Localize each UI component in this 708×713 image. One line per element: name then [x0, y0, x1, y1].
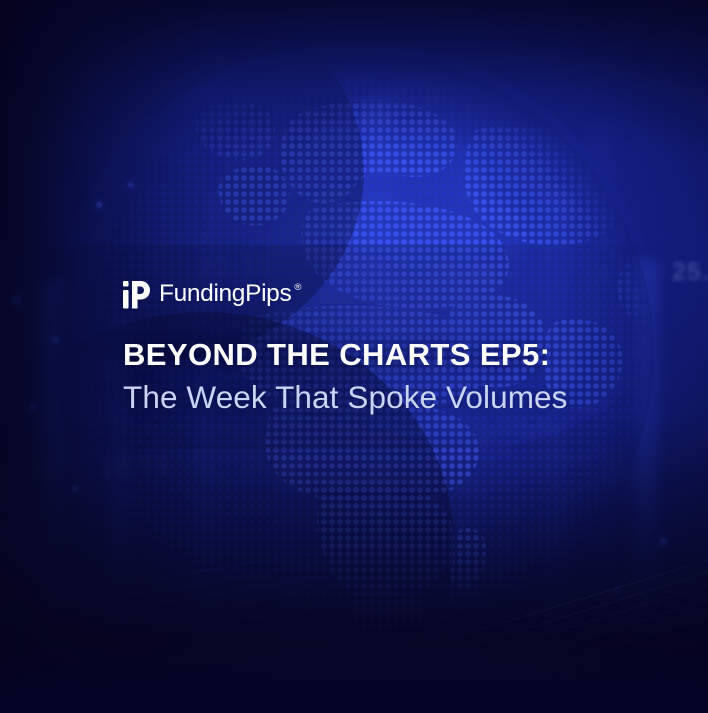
content-block: FundingPips ® BEYOND THE CHARTS EP5: The… — [123, 278, 643, 414]
thumbnail-canvas: 22:10 24.78 25.2 18.75 11.68 — [0, 0, 708, 713]
brand-wordmark: FundingPips ® — [159, 282, 301, 307]
brand-logo: FundingPips ® — [123, 278, 643, 310]
registered-trademark-icon: ® — [294, 283, 301, 293]
headline: BEYOND THE CHARTS EP5: — [123, 339, 643, 370]
fundingpips-p-mark-icon — [123, 280, 150, 309]
subheadline: The Week That Spoke Volumes — [123, 381, 643, 414]
brand-name: FundingPips — [159, 282, 291, 307]
